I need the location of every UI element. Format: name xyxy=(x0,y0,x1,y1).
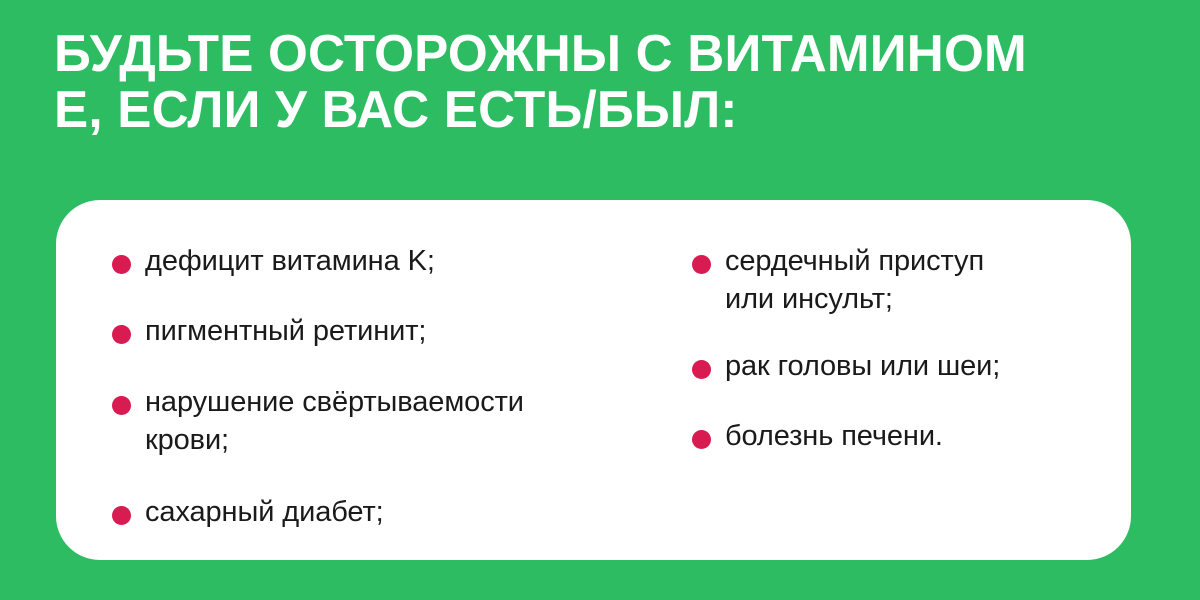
bullet-dot-icon xyxy=(112,396,131,415)
page-title: БУДЬТЕ ОСТОРОЖНЫ С ВИТАМИНОМ Е, ЕСЛИ У В… xyxy=(54,26,1138,138)
list-item-label: дефицит витамина K; xyxy=(145,242,435,280)
bullet-dot-icon xyxy=(112,255,131,274)
list-item-label: болезнь печени. xyxy=(725,417,943,455)
list-item: дефицит витамина K; xyxy=(112,242,435,280)
list-item: сахарный диабет; xyxy=(112,493,384,531)
list-item-label: сердечный приступ или инсульт; xyxy=(725,242,984,318)
bullet-dot-icon xyxy=(692,360,711,379)
list-item-label: пигментный ретинит; xyxy=(145,312,426,350)
infographic-root: БУДЬТЕ ОСТОРОЖНЫ С ВИТАМИНОМ Е, ЕСЛИ У В… xyxy=(0,0,1200,600)
list-item-label: нарушение свёртываемости крови; xyxy=(145,383,524,459)
bullet-dot-icon xyxy=(112,325,131,344)
conditions-card: дефицит витамина K; пигментный ретинит; … xyxy=(56,200,1131,560)
list-item: рак головы или шеи; xyxy=(692,347,1000,385)
list-item-label: рак головы или шеи; xyxy=(725,347,1000,385)
list-item: сердечный приступ или инсульт; xyxy=(692,242,984,318)
bullet-dot-icon xyxy=(112,506,131,525)
conditions-columns: дефицит витамина K; пигментный ретинит; … xyxy=(56,200,1131,560)
list-item-label: сахарный диабет; xyxy=(145,493,384,531)
bullet-dot-icon xyxy=(692,255,711,274)
list-item: болезнь печени. xyxy=(692,417,943,455)
list-item: нарушение свёртываемости крови; xyxy=(112,383,524,459)
bullet-dot-icon xyxy=(692,430,711,449)
list-item: пигментный ретинит; xyxy=(112,312,426,350)
